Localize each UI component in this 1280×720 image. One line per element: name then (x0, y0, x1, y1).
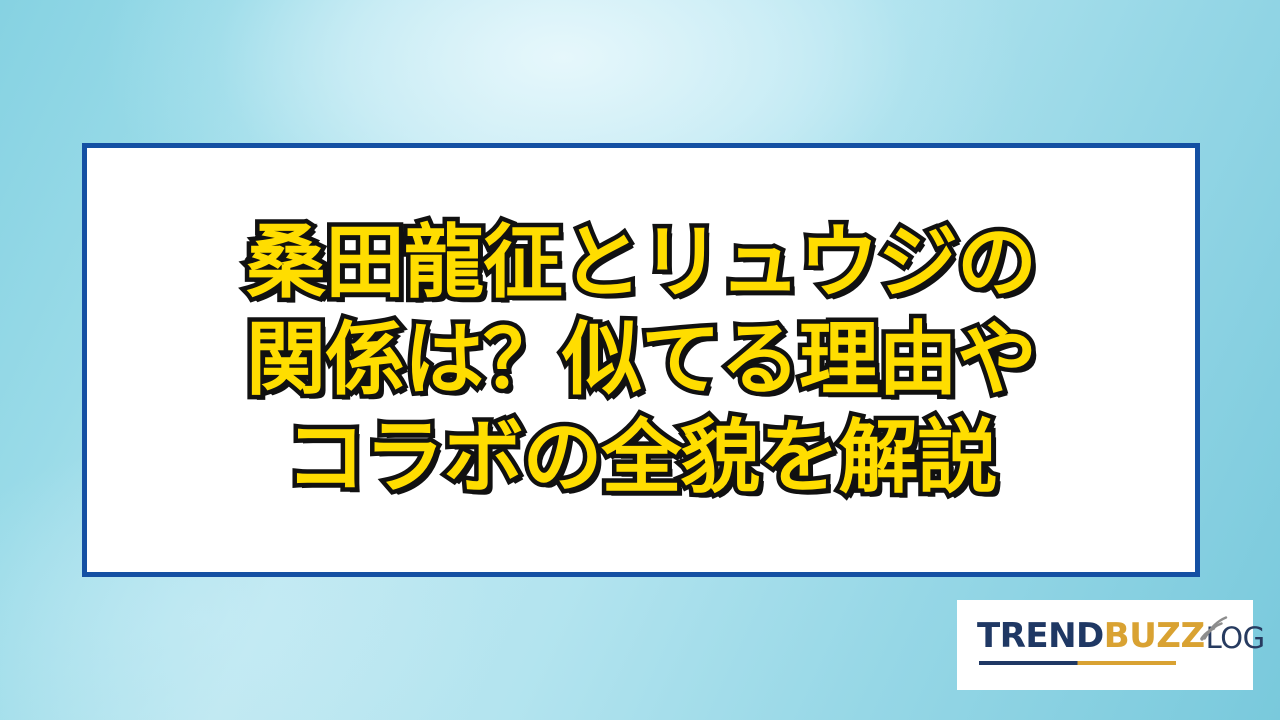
logo-underline-bar (979, 661, 1176, 665)
logo-inner: TREND BUZZ LOG (977, 617, 1233, 673)
title-line-2: 関係は？似てる理由や (105, 311, 1177, 409)
page-title: 桑田龍征とリュウジの 関係は？似てる理由や コラボの全貌を解説 (87, 214, 1195, 507)
logo-text-trend: TREND (977, 619, 1104, 653)
logo-text-buzz: BUZZ (1104, 619, 1205, 653)
title-line-1: 桑田龍征とリュウジの (105, 214, 1177, 312)
title-line-3: コラボの全貌を解説 (105, 409, 1177, 507)
title-card: 桑田龍征とリュウジの 関係は？似てる理由や コラボの全貌を解説 (82, 143, 1200, 577)
wifi-signal-icon (1197, 615, 1229, 641)
brand-logo: TREND BUZZ LOG (957, 600, 1253, 690)
thumbnail-canvas: 桑田龍征とリュウジの 関係は？似てる理由や コラボの全貌を解説 TREND BU… (0, 0, 1280, 720)
